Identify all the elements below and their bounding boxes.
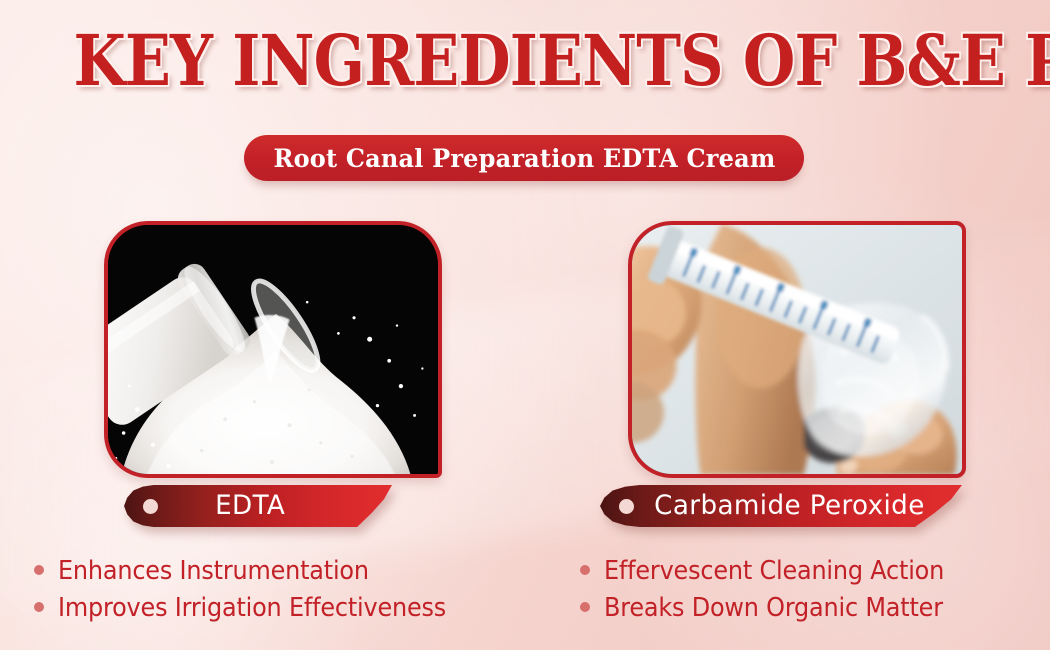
ribbon-hole-icon: [619, 499, 634, 514]
list-item: Effervescent Cleaning Action: [580, 556, 1040, 586]
list-item: Enhances Instrumentation: [34, 556, 534, 586]
ribbon-hole-icon: [143, 499, 158, 514]
benefit-text: Enhances Instrumentation: [58, 556, 369, 586]
syringe-hands-photo: [632, 225, 962, 474]
subtitle-text: Root Canal Preparation EDTA Cream: [273, 144, 775, 173]
ingredient-label-edta: EDTA: [124, 485, 392, 527]
bullet-dot-icon: [580, 565, 590, 575]
poster-canvas: KEY INGREDIENTS OF B&E PREP Root Canal P…: [0, 0, 1050, 650]
ingredient-name: EDTA: [215, 491, 285, 521]
benefits-list-carbamide-peroxide: Effervescent Cleaning Action Breaks Down…: [580, 556, 1040, 630]
ingredient-name: Carbamide Peroxide: [654, 491, 925, 521]
ingredient-photo-card-edta: [104, 221, 442, 478]
bullet-dot-icon: [34, 602, 44, 612]
list-item: Breaks Down Organic Matter: [580, 593, 1040, 623]
benefit-text: Breaks Down Organic Matter: [604, 593, 943, 623]
benefits-list-edta: Enhances Instrumentation Improves Irriga…: [34, 556, 534, 630]
ingredient-photo-card-carbamide-peroxide: [628, 221, 966, 478]
subtitle-banner: Root Canal Preparation EDTA Cream: [244, 135, 804, 181]
benefit-text: Improves Irrigation Effectiveness: [58, 593, 446, 623]
benefit-text: Effervescent Cleaning Action: [604, 556, 944, 586]
bullet-dot-icon: [34, 565, 44, 575]
bullet-dot-icon: [580, 602, 590, 612]
page-title: KEY INGREDIENTS OF B&E PREP: [74, 24, 977, 98]
powder-jar-photo: [108, 225, 438, 474]
ingredient-label-carbamide-peroxide: Carbamide Peroxide: [600, 485, 962, 527]
list-item: Improves Irrigation Effectiveness: [34, 593, 534, 623]
